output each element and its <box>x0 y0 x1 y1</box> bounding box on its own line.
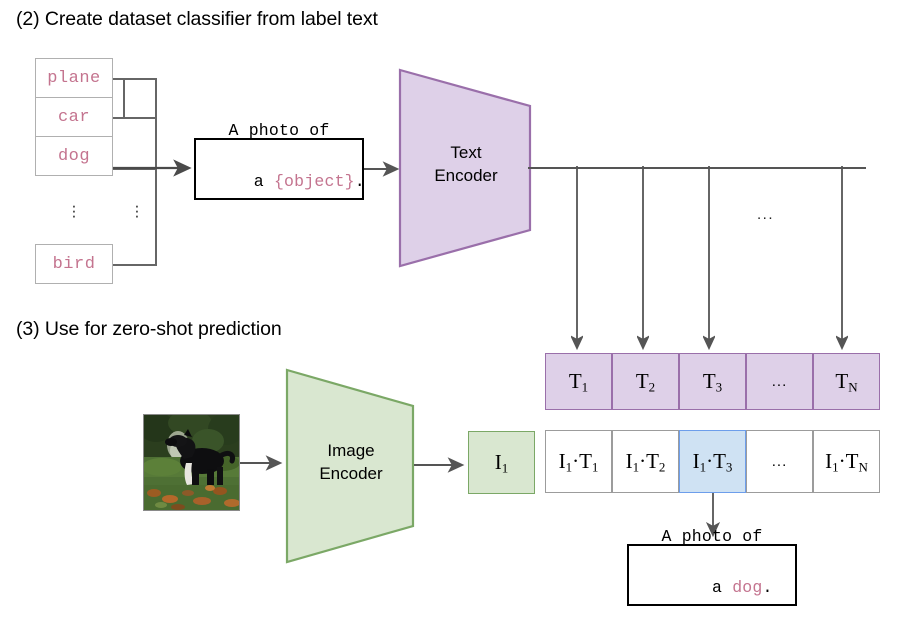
image-encoder-shape[interactable] <box>283 366 419 566</box>
text-drop-arrow-n <box>836 166 848 358</box>
text-embedding-cell-ellipsis: ... <box>746 353 813 410</box>
prediction-prefix: a <box>712 578 732 597</box>
prediction-line-1: A photo of <box>661 524 762 550</box>
cell-ellipsis: ... <box>772 373 788 390</box>
connector-bird <box>113 264 157 266</box>
text-encoder-shape[interactable] <box>396 66 536 270</box>
label-text: car <box>58 108 90 127</box>
prediction-suffix: . <box>763 578 773 597</box>
label-box-plane[interactable]: plane <box>35 58 113 98</box>
text-embedding-cell-1[interactable]: T1 <box>545 353 612 410</box>
connector-plane <box>113 78 157 80</box>
prediction-slot: dog <box>732 578 762 597</box>
text-bus-ellipsis: ... <box>757 206 774 223</box>
prompt-template-box[interactable]: A photo of a {object}. <box>194 138 364 200</box>
prompt-line-2: a {object}. <box>193 143 365 220</box>
label-box-dog[interactable]: dog <box>35 136 113 176</box>
text-embedding-cell-2[interactable]: T2 <box>612 353 679 410</box>
step-3-heading: (3) Use for zero-shot prediction <box>16 318 282 341</box>
cell-label: T2 <box>636 369 655 394</box>
similarity-cell-3-selected[interactable]: I1·T3 <box>679 430 746 493</box>
cell-label: I1 <box>495 450 509 475</box>
text-embedding-cell-n[interactable]: TN <box>813 353 880 410</box>
input-photo[interactable] <box>143 414 240 511</box>
cell-label: TN <box>835 369 857 394</box>
cell-label: I1·T1 <box>559 449 599 474</box>
prompt-prefix: a <box>254 172 274 191</box>
connector-car <box>113 117 157 119</box>
clip-zero-shot-diagram: (2) Create dataset classifier from label… <box>0 0 906 624</box>
similarity-cell-1[interactable]: I1·T1 <box>545 430 612 493</box>
prediction-output-box[interactable]: A photo of a dog. <box>627 544 797 606</box>
prompt-slot: {object} <box>274 172 355 191</box>
cell-label: T1 <box>569 369 588 394</box>
text-drop-arrow-3 <box>703 166 715 358</box>
prompt-line-1: A photo of <box>228 118 329 144</box>
image-encoder-to-embedding-arrow <box>414 449 472 481</box>
labels-to-prompt-arrow <box>113 152 203 186</box>
text-drop-arrow-1 <box>571 166 583 358</box>
bracket-segment-upper <box>123 78 125 118</box>
input-photo-render <box>144 415 239 510</box>
label-text: bird <box>53 255 96 274</box>
label-box-car[interactable]: car <box>35 97 113 137</box>
cell-label: I1·T3 <box>693 449 733 474</box>
label-box-bird[interactable]: bird <box>35 244 113 284</box>
label-text: dog <box>58 147 90 166</box>
bus-ellipsis-icon: ··· <box>128 203 146 218</box>
cell-label: I1·TN <box>825 449 868 474</box>
cell-label: T3 <box>703 369 722 394</box>
text-embedding-cell-3[interactable]: T3 <box>679 353 746 410</box>
cell-ellipsis: ... <box>772 453 788 470</box>
label-text: plane <box>47 69 101 88</box>
label-list-ellipsis-icon: ··· <box>65 203 83 218</box>
step-2-heading: (2) Create dataset classifier from label… <box>16 8 378 31</box>
prediction-line-2: a dog. <box>651 549 772 624</box>
text-drop-arrow-2 <box>637 166 649 358</box>
similarity-cell-2[interactable]: I1·T2 <box>612 430 679 493</box>
image-embedding-cell[interactable]: I1 <box>468 431 535 494</box>
similarity-cell-ellipsis: ... <box>746 430 813 493</box>
cell-label: I1·T2 <box>626 449 666 474</box>
similarity-cell-n[interactable]: I1·TN <box>813 430 880 493</box>
